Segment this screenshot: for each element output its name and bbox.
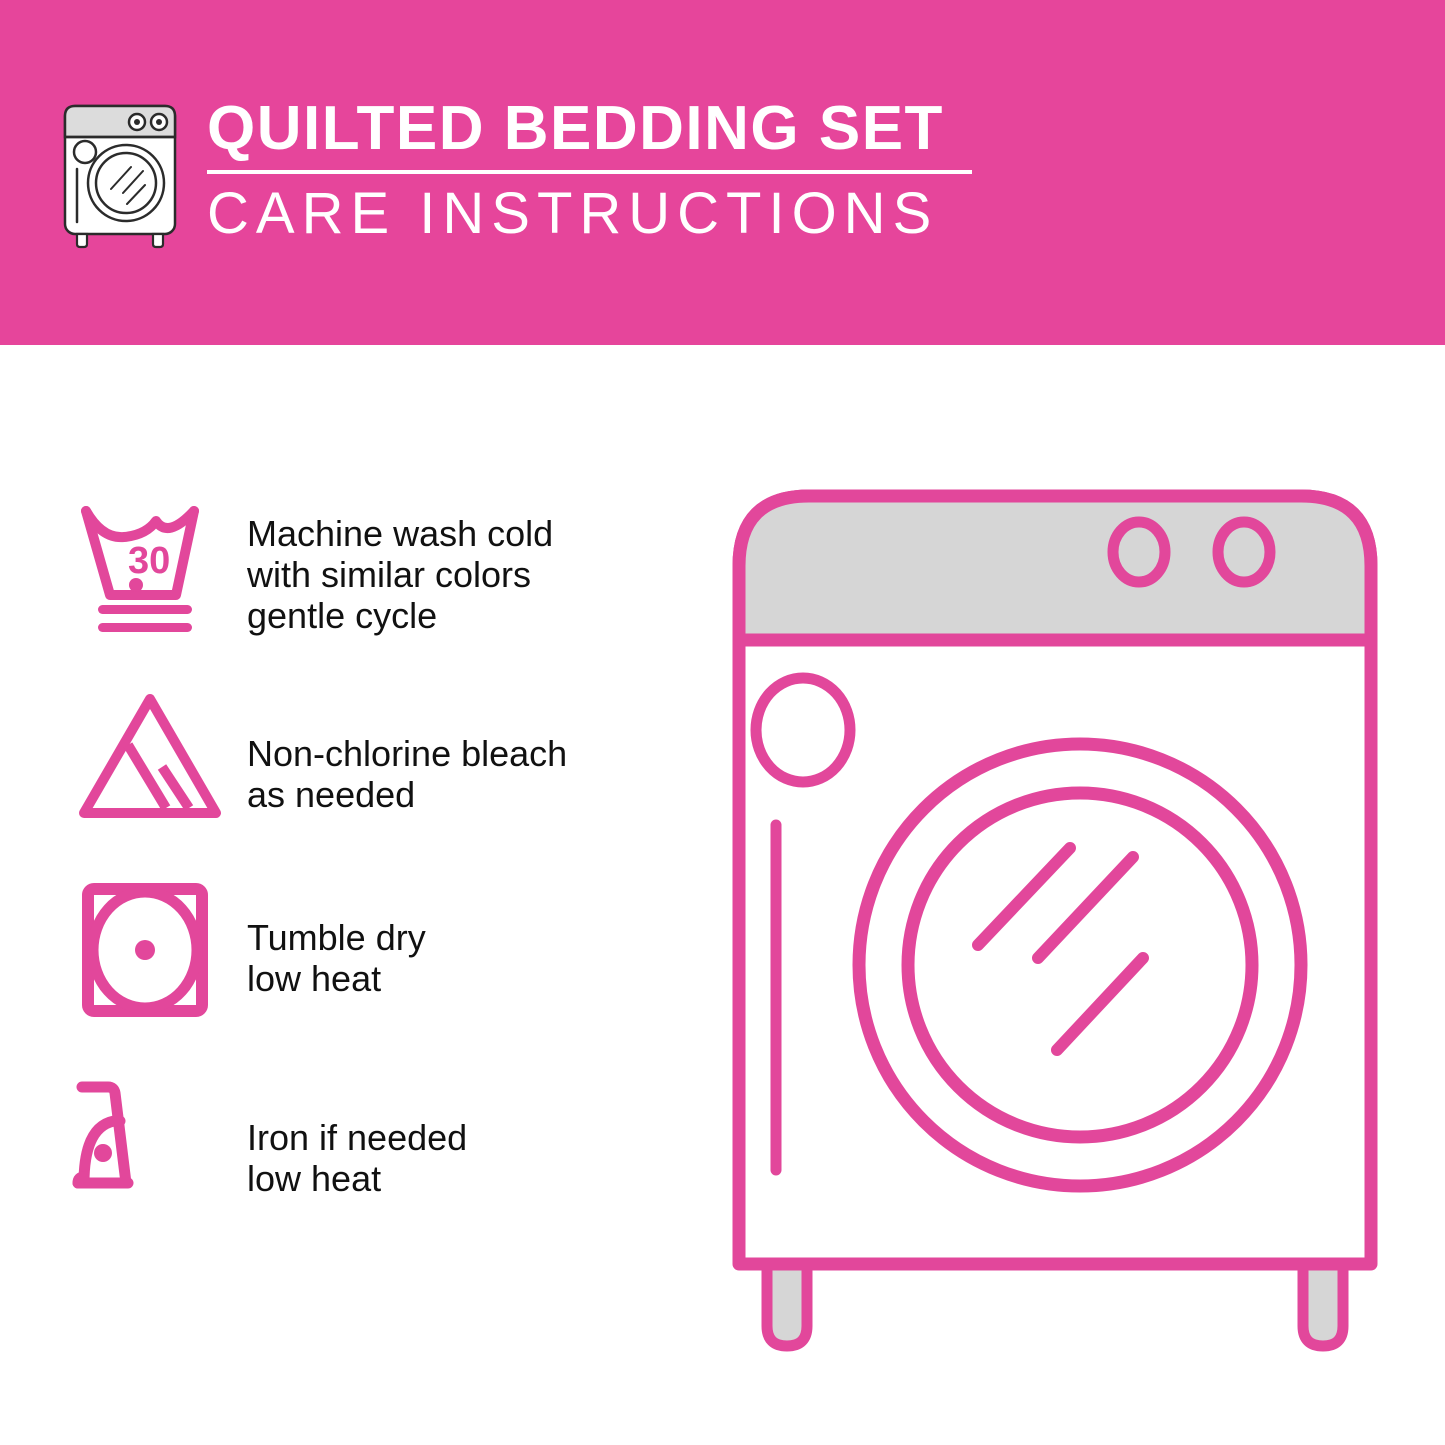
care-item-tumble-dry-label: Tumble dry low heat [235, 875, 690, 999]
care-item-machine-wash-label: Machine wash cold with similar colors ge… [235, 495, 690, 636]
care-item-bleach-label: Non-chlorine bleach as needed [235, 685, 690, 815]
iron-low-heat-icon [70, 1065, 235, 1215]
wash-temperature-label: 30 [128, 540, 170, 582]
care-text-line: low heat [247, 1158, 690, 1199]
header-content: QUILTED BEDDING SET CARE INSTRUCTIONS [55, 92, 995, 267]
header-text: QUILTED BEDDING SET CARE INSTRUCTIONS [207, 92, 995, 246]
washer-knob-right [1218, 522, 1270, 582]
care-text-line: low heat [247, 958, 690, 999]
page-subtitle: CARE INSTRUCTIONS [207, 182, 995, 246]
page-title: QUILTED BEDDING SET [207, 94, 995, 164]
care-text-line: Non-chlorine bleach [247, 733, 690, 774]
care-text-line: gentle cycle [247, 595, 690, 636]
non-chlorine-bleach-icon [70, 685, 235, 835]
care-text-line: Iron if needed [247, 1117, 690, 1158]
front-load-washing-machine-illustration [725, 480, 1395, 1370]
care-item-iron: Iron if needed low heat [70, 1065, 690, 1255]
care-item-tumble-dry: Tumble dry low heat [70, 875, 690, 1065]
machine-wash-30-gentle-icon: 30 [70, 495, 235, 645]
care-item-bleach: Non-chlorine bleach as needed [70, 685, 690, 875]
tumble-dry-low-icon [70, 875, 235, 1025]
washer-control-panel [739, 496, 1371, 640]
care-instructions-page: QUILTED BEDDING SET CARE INSTRUCTIONS 30 [0, 0, 1445, 1445]
header-divider [207, 170, 972, 174]
care-instruction-list: 30 Machine wash cold with similar colors… [70, 495, 690, 1255]
care-text-line: Machine wash cold [247, 513, 690, 554]
washer-door-inner-ring [908, 793, 1252, 1137]
care-item-iron-label: Iron if needed low heat [235, 1065, 690, 1199]
care-text-line: as needed [247, 774, 690, 815]
care-text-line: Tumble dry [247, 917, 690, 958]
washer-knob-left [1113, 522, 1165, 582]
care-text-line: with similar colors [247, 554, 690, 595]
header-band: QUILTED BEDDING SET CARE INSTRUCTIONS [0, 0, 1445, 345]
washer-dispenser-circle [756, 678, 850, 782]
washing-machine-icon [55, 94, 185, 249]
care-item-machine-wash: 30 Machine wash cold with similar colors… [70, 495, 690, 685]
